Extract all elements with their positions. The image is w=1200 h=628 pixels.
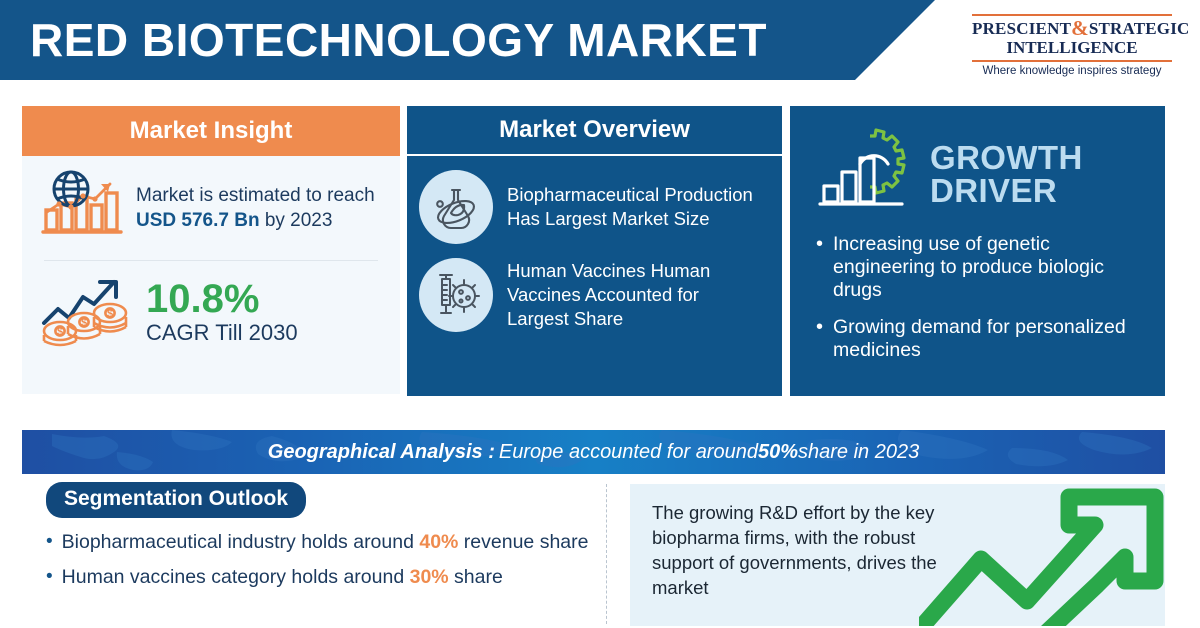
coins-growth-arrow-icon: $$$ [38,273,134,354]
logo-line-1: PRESCIENT&STRATEGIC [972,19,1172,38]
gear-bar-chart-icon [816,128,924,219]
bullet-dot-icon: • [46,565,53,590]
cagr-item: $$$ 10.8% CAGR Till 2030 [38,261,384,365]
logo-ampersand: & [1071,16,1089,40]
segmentation-outlook-section: Segmentation Outlook • Biopharmaceutical… [22,482,602,600]
growth-driver-header: GROWTH DRIVER [790,106,1165,225]
geographical-analysis-banner: Geographical Analysis : Europe accounted… [22,430,1165,474]
market-estimate-item: Market is estimated to reach USD 576.7 B… [38,156,384,260]
overview-item-text: Human Vaccines Human Vaccines Accounted … [507,259,764,331]
logo-prescient: PRESCIENT [972,19,1071,38]
flask-leaf-icon [419,170,493,244]
market-estimate-text: Market is estimated to reach USD 576.7 B… [136,183,384,233]
segmentation-outlook-list: • Biopharmaceutical industry holds aroun… [22,530,602,590]
growth-driver-title-line1: GROWTH [930,141,1083,174]
page-header: RED BIOTECHNOLOGY MARKET PRESCIENT&STRAT… [0,0,1200,80]
bullet-dot-icon: • [46,530,53,555]
svg-text:$: $ [81,317,87,329]
vertical-dashed-divider [606,484,607,624]
company-logo: PRESCIENT&STRATEGIC INTELLIGENCE Where k… [972,14,1172,77]
svg-text:$: $ [57,326,63,338]
seg-pre: Biopharmaceutical industry holds around [62,531,420,553]
overview-item: Biopharmaceutical Production Has Largest… [419,170,764,244]
market-insight-card: Market Insight [22,106,400,394]
overview-item: Human Vaccines Human Vaccines Accounted … [419,258,764,332]
growth-driver-bullet-text: Growing demand for personalized medicine… [833,316,1145,362]
estimate-post: by 2023 [260,210,333,231]
green-growth-arrow-icon [919,484,1165,626]
growth-driver-card: GROWTH DRIVER • Increasing use of geneti… [790,106,1165,396]
growth-driver-bullet: • Increasing use of genetic engineering … [816,233,1145,302]
logo-line-2: INTELLIGENCE [972,38,1172,57]
svg-text:$: $ [107,308,113,320]
globe-bar-chart-icon [38,170,124,247]
bullet-dot-icon: • [816,233,823,302]
logo-strategic: STRATEGIC [1089,19,1190,38]
rnd-note-card: The growing R&D effort by the key biopha… [630,484,1165,626]
market-overview-card: Market Overview Biopharmace [407,106,782,396]
cagr-label: CAGR Till 2030 [146,319,298,347]
seg-post: revenue share [458,531,588,553]
geo-pre: Europe accounted for around [499,441,758,464]
infographic-page: RED BIOTECHNOLOGY MARKET PRESCIENT&STRAT… [0,0,1200,628]
cagr-block: 10.8% CAGR Till 2030 [146,279,298,347]
syringe-virus-icon [419,258,493,332]
market-overview-heading: Market Overview [407,106,782,156]
segmentation-outlook-pill: Segmentation Outlook [46,482,306,518]
top-cards-row: Market Insight [0,84,1200,414]
growth-driver-bullet: • Growing demand for personalized medici… [816,316,1145,362]
segmentation-bullet: • Human vaccines category holds around 3… [46,565,602,590]
growth-driver-list: • Increasing use of genetic engineering … [790,225,1165,362]
geographical-analysis-text: Geographical Analysis : Europe accounted… [22,430,1165,474]
segmentation-bullet: • Biopharmaceutical industry holds aroun… [46,530,602,555]
logo-tagline: Where knowledge inspires strategy [972,65,1172,77]
seg-post: share [449,566,503,588]
seg-pre: Human vaccines category holds around [62,566,410,588]
segmentation-bullet-text: Biopharmaceutical industry holds around … [62,530,589,555]
page-title: RED BIOTECHNOLOGY MARKET [30,12,767,68]
geo-value: 50% [758,441,798,464]
overview-item-text: Biopharmaceutical Production Has Largest… [507,183,764,231]
bottom-row: Segmentation Outlook • Biopharmaceutical… [0,482,1200,628]
market-overview-body: Biopharmaceutical Production Has Largest… [407,156,782,332]
seg-highlight: 40% [419,531,458,553]
market-insight-heading: Market Insight [22,106,400,156]
segmentation-bullet-text: Human vaccines category holds around 30%… [62,565,503,590]
growth-driver-title: GROWTH DRIVER [930,141,1083,207]
logo-rule-bottom [972,60,1172,62]
growth-driver-bullet-text: Increasing use of genetic engineering to… [833,233,1145,302]
market-insight-body: Market is estimated to reach USD 576.7 B… [22,156,400,365]
cagr-value: 10.8% [146,279,298,319]
growth-driver-title-line2: DRIVER [930,174,1083,207]
estimate-pre: Market is estimated to reach [136,185,375,206]
bullet-dot-icon: • [816,316,823,362]
geo-label: Geographical Analysis : [268,441,495,464]
geo-post: share in 2023 [798,441,919,464]
seg-highlight: 30% [410,566,449,588]
estimate-value: USD 576.7 Bn [136,210,260,231]
